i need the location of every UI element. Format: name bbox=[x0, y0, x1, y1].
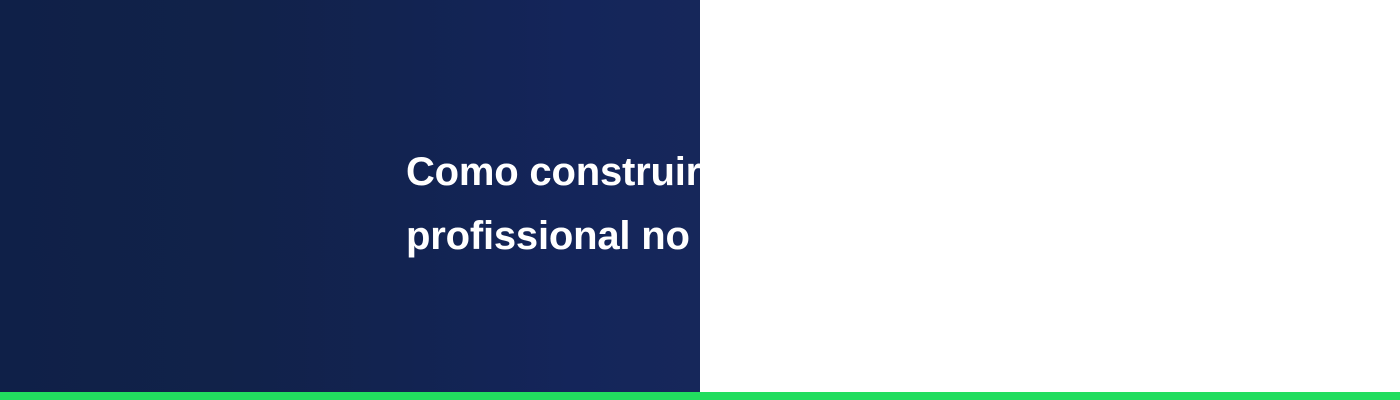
banner-title: Como construir reputação profissional no… bbox=[406, 140, 1046, 268]
banner-title-line-1: Como construir reputação bbox=[406, 140, 1046, 204]
bottom-accent-bar bbox=[0, 392, 1400, 400]
article-hero-banner: Como construir reputação profissional no… bbox=[0, 0, 1400, 400]
banner-title-line-2: profissional no agronegócio bbox=[406, 204, 1046, 268]
